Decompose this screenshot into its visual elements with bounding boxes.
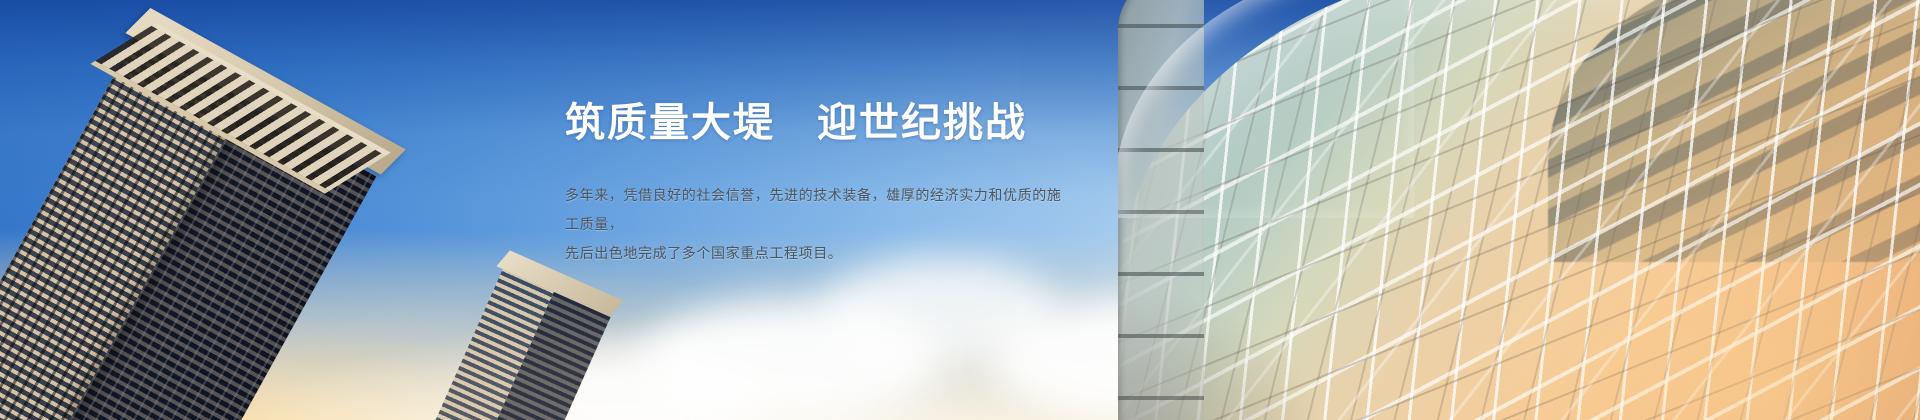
banner-body-text: 多年来，凭借良好的社会信誉，先进的技术装备，雄厚的经济实力和优质的施工质量， 先… [565,181,1065,267]
hero-banner: 筑质量大堤 迎世纪挑战 多年来，凭借良好的社会信誉，先进的技术装备，雄厚的经济实… [0,0,1920,420]
banner-copy-block: 筑质量大堤 迎世纪挑战 多年来，凭借良好的社会信誉，先进的技术装备，雄厚的经济实… [565,100,1125,267]
glass-tower-lower-shading [1118,162,1418,420]
banner-body-line-1: 多年来，凭借良好的社会信誉，先进的技术装备，雄厚的经济实力和优质的施工质量， [565,181,1065,238]
banner-body-line-2: 先后出色地完成了多个国家重点工程项目。 [565,239,1065,268]
glass-tower-sun-glow [1398,102,1920,420]
curved-glass-tower [1118,0,1920,420]
banner-headline: 筑质量大堤 迎世纪挑战 [565,100,1125,147]
